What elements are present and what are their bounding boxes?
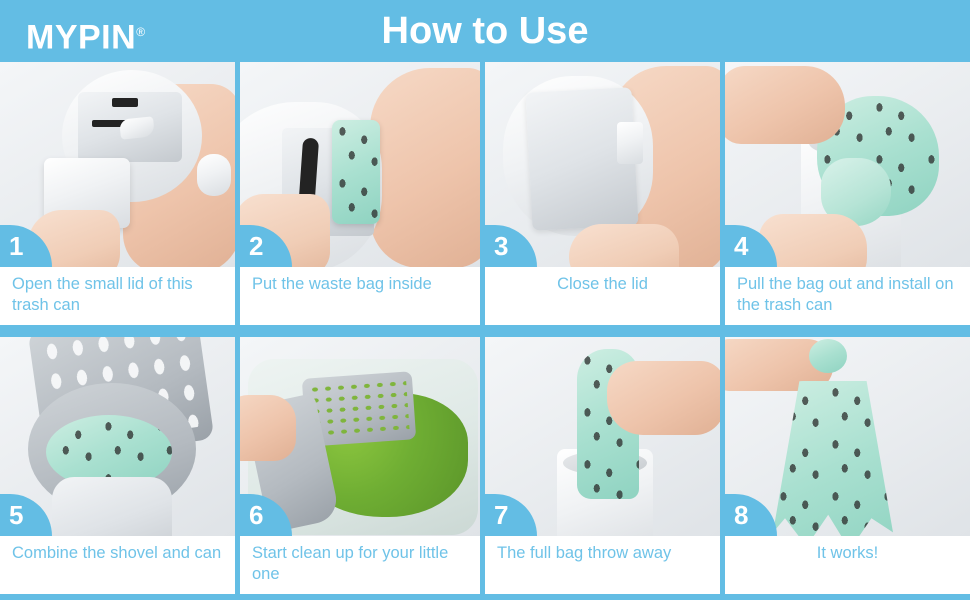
step-caption-3: Close the lid (485, 267, 720, 325)
step-cell-8: 8 It works! (725, 331, 970, 600)
hand-lifting-full-bag-photo: 7 (485, 337, 720, 536)
infographic-page: MYPIN® How to Use 1 (0, 0, 970, 600)
step-panel-2: 2 Put the waste bag inside (240, 62, 480, 325)
step-caption-7: The full bag throw away (485, 536, 720, 594)
step-panel-8: 8 It works! (725, 337, 970, 594)
step-panel-7: 7 The full bag throw away (485, 337, 720, 594)
page-header: MYPIN® How to Use (0, 0, 970, 62)
step-cell-7: 7 The full bag throw away (485, 331, 725, 600)
step-cell-5: 5 Combine the shovel and can (0, 331, 240, 600)
scoop-with-bag-attached-photo: 5 (0, 337, 235, 536)
step-caption-2: Put the waste bag inside (240, 267, 480, 325)
step-caption-6: Start clean up for your little one (240, 536, 480, 594)
step-cell-4: 4 Pull the bag out and install on the tr… (725, 62, 970, 331)
scooping-litter-box-photo: 6 (240, 337, 480, 536)
step-panel-3: 3 Close the lid (485, 62, 720, 325)
step-panel-1: 1 Open the small lid of this trash can (0, 62, 235, 325)
step-caption-4: Pull the bag out and install on the tras… (725, 267, 970, 325)
step-caption-1: Open the small lid of this trash can (0, 267, 235, 325)
hand-holding-tied-bag-photo: 8 (725, 337, 970, 536)
step-cell-3: 3 Close the lid (485, 62, 725, 331)
hand-inserting-bag-roll-photo: 2 (240, 62, 480, 267)
step-panel-5: 5 Combine the shovel and can (0, 337, 235, 594)
step-cell-1: 1 Open the small lid of this trash can (0, 62, 240, 331)
step-panel-6: 6 Start clean up for your little one (240, 337, 480, 594)
hands-installing-bag-on-can-photo: 4 (725, 62, 970, 267)
step-cell-6: 6 Start clean up for your little one (240, 331, 485, 600)
step-caption-8: It works! (725, 536, 970, 594)
step-panel-4: 4 Pull the bag out and install on the tr… (725, 62, 970, 325)
hand-closing-lid-photo: 3 (485, 62, 720, 267)
steps-grid: 1 Open the small lid of this trash can 2 (0, 62, 970, 600)
step-caption-5: Combine the shovel and can (0, 536, 235, 594)
hand-opening-small-lid-photo: 1 (0, 62, 235, 267)
page-title: How to Use (0, 8, 970, 54)
step-cell-2: 2 Put the waste bag inside (240, 62, 485, 331)
